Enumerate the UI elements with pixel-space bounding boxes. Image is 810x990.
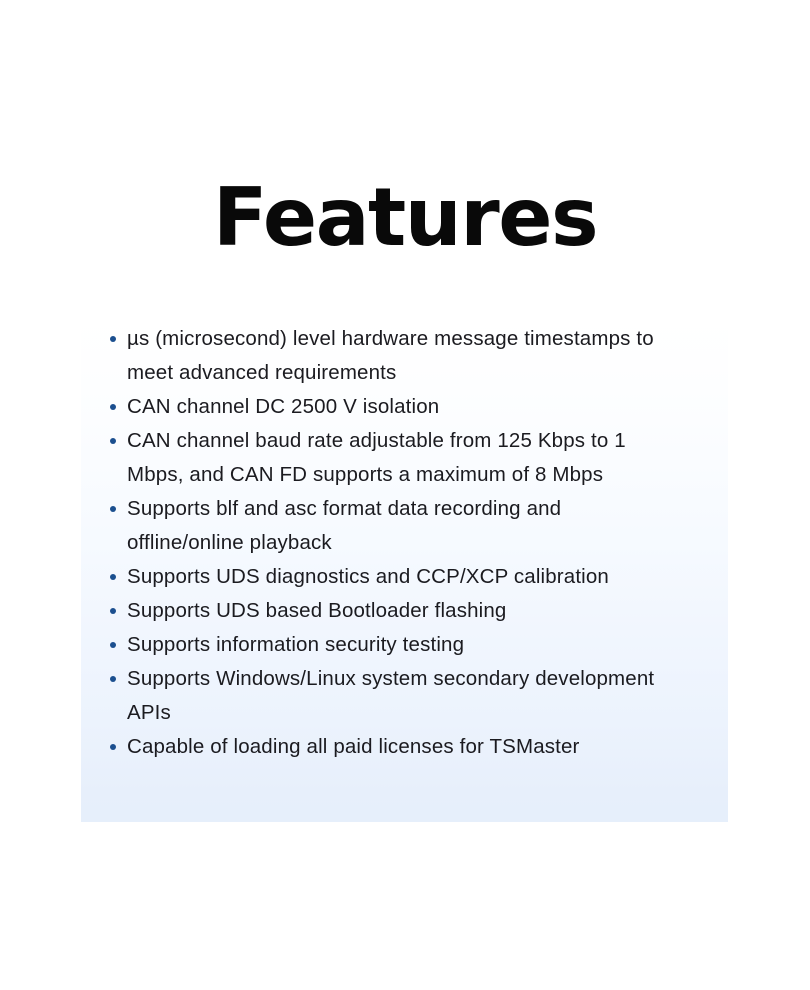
slide-content: Features µs (microsecond) level hardware… bbox=[0, 0, 810, 990]
list-item-label: CAN channel baud rate adjustable from 12… bbox=[127, 424, 678, 492]
list-item-label: Supports UDS based Bootloader flashing bbox=[127, 594, 678, 628]
list-item: Supports blf and asc format data recordi… bbox=[108, 492, 678, 560]
list-item-label: Supports Windows/Linux system secondary … bbox=[127, 662, 678, 730]
list-item-label: Supports blf and asc format data recordi… bbox=[127, 492, 678, 560]
bullet-dot-icon bbox=[110, 642, 116, 648]
list-item: Supports information security testing bbox=[108, 628, 678, 662]
features-list: µs (microsecond) level hardware message … bbox=[108, 322, 678, 764]
bullet-dot-icon bbox=[110, 574, 116, 580]
list-item-label: Supports UDS diagnostics and CCP/XCP cal… bbox=[127, 560, 678, 594]
list-item: µs (microsecond) level hardware message … bbox=[108, 322, 678, 390]
list-item: Supports Windows/Linux system secondary … bbox=[108, 662, 678, 730]
bullet-dot-icon bbox=[110, 744, 116, 750]
list-item-label: Capable of loading all paid licenses for… bbox=[127, 730, 678, 764]
bullet-dot-icon bbox=[110, 438, 116, 444]
page-title: Features bbox=[0, 178, 810, 258]
list-item-label: µs (microsecond) level hardware message … bbox=[127, 322, 678, 390]
list-item-label: Supports information security testing bbox=[127, 628, 678, 662]
bullet-dot-icon bbox=[110, 608, 116, 614]
list-item: Supports UDS diagnostics and CCP/XCP cal… bbox=[108, 560, 678, 594]
list-item: Capable of loading all paid licenses for… bbox=[108, 730, 678, 764]
bullet-dot-icon bbox=[110, 404, 116, 410]
list-item: Supports UDS based Bootloader flashing bbox=[108, 594, 678, 628]
list-item: CAN channel DC 2500 V isolation bbox=[108, 390, 678, 424]
list-item: CAN channel baud rate adjustable from 12… bbox=[108, 424, 678, 492]
slide-canvas: Features µs (microsecond) level hardware… bbox=[0, 0, 810, 990]
bullet-dot-icon bbox=[110, 676, 116, 682]
bullet-dot-icon bbox=[110, 506, 116, 512]
bullet-dot-icon bbox=[110, 336, 116, 342]
list-item-label: CAN channel DC 2500 V isolation bbox=[127, 390, 678, 424]
